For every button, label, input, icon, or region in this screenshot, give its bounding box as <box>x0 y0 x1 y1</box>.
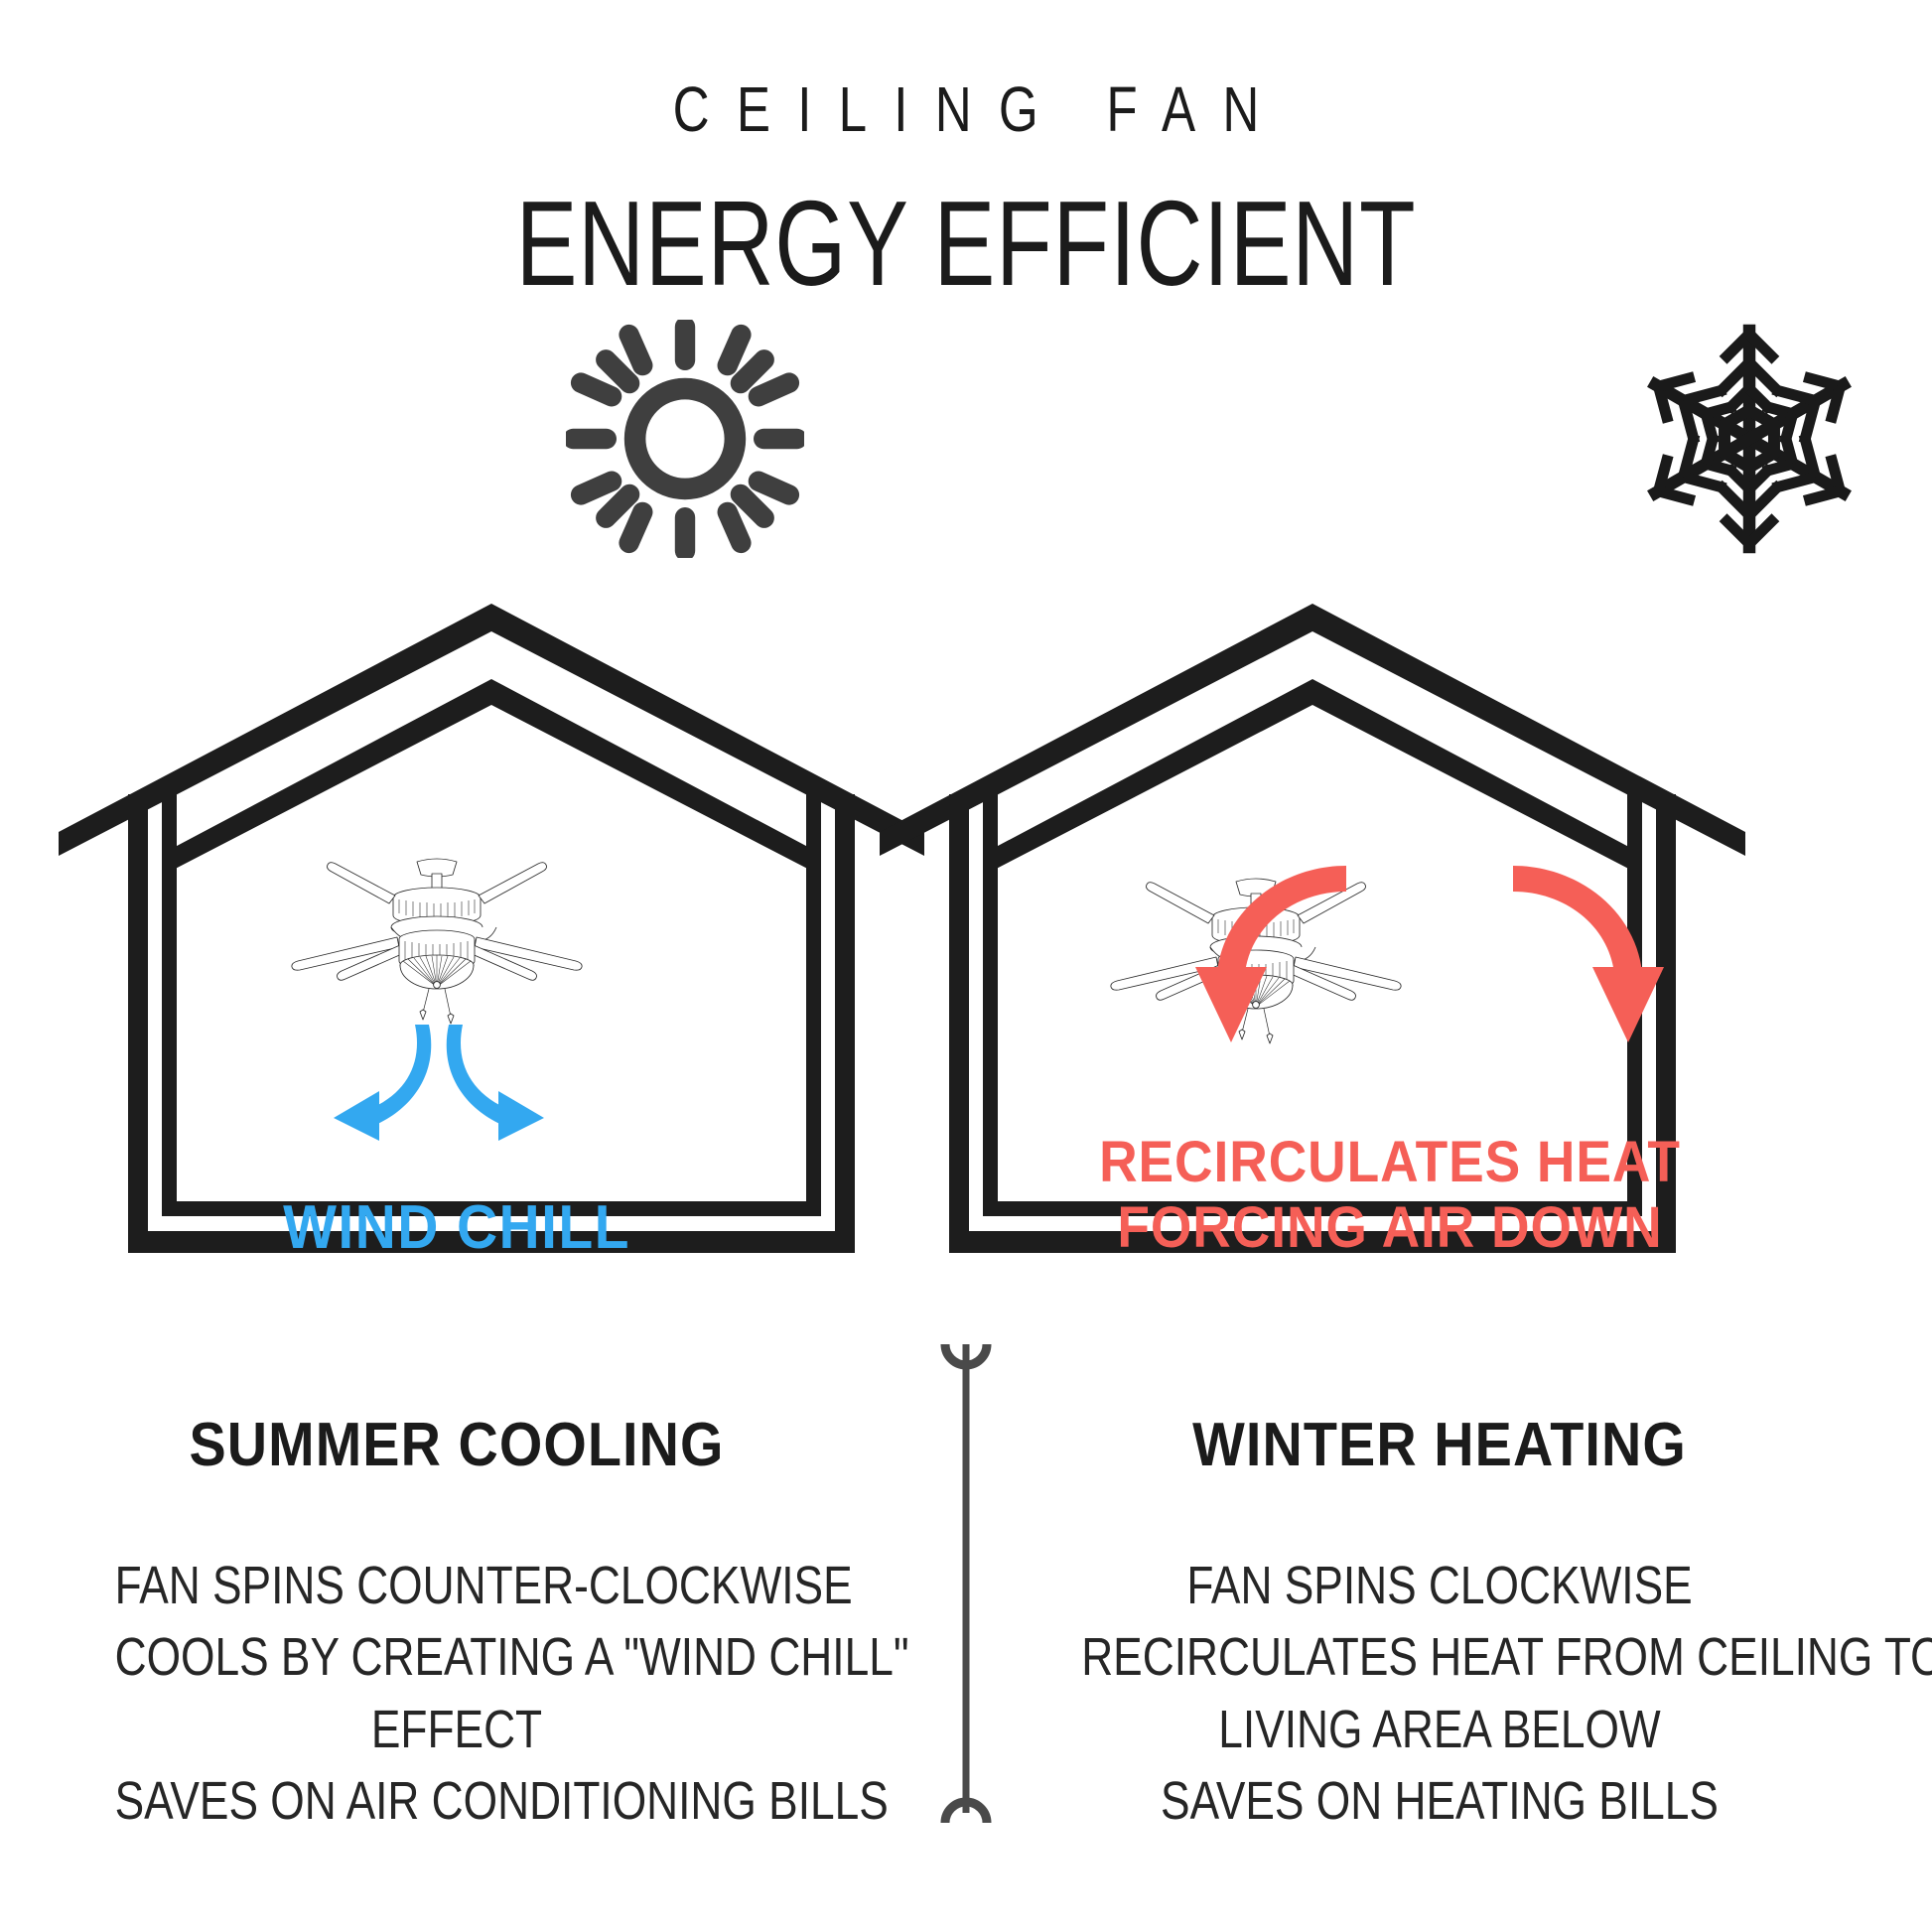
title-block: CEILING FAN ENERGY EFFICIENT <box>0 77 1932 304</box>
body-winter: FAN SPINS CLOCKWISE RECIRCULATES HEAT FR… <box>1081 1550 1798 1837</box>
arrow-recirculate-left <box>1195 866 1346 1042</box>
page-title: ENERGY EFFICIENT <box>232 183 1701 304</box>
body-line: SAVES ON HEATING BILLS <box>1081 1765 1798 1837</box>
column-winter: WINTER HEATING FAN SPINS CLOCKWISE RECIR… <box>1003 1410 1876 1837</box>
snowflake-icon <box>1630 320 1868 558</box>
callout-line-2: FORCING AIR DOWN <box>1025 1195 1755 1261</box>
ceiling-fan-summer <box>278 854 596 1042</box>
arrow-recirculate-right <box>1513 866 1664 1042</box>
body-line: LIVING AREA BELOW <box>1081 1694 1798 1765</box>
body-line: RECIRCULATES HEAT FROM CEILING TO <box>1081 1621 1798 1693</box>
callout-recirculates-heat: RECIRCULATES HEAT FORCING AIR DOWN <box>1025 1130 1755 1260</box>
airflow-arrows-winter <box>1172 854 1688 1082</box>
heading-winter-heating: WINTER HEATING <box>1046 1410 1833 1480</box>
infographic-canvas: CEILING FAN ENERGY EFFICIENT <box>0 0 1932 1932</box>
heading-summer-cooling: SUMMER COOLING <box>81 1410 832 1480</box>
body-line: COOLS BY CREATING A "WIND CHILL" <box>115 1621 799 1693</box>
arrow-down-right <box>447 1025 544 1141</box>
arrow-down-left <box>334 1025 431 1141</box>
sun-icon <box>566 320 804 558</box>
body-line: FAN SPINS CLOCKWISE <box>1081 1550 1798 1621</box>
callout-line-1: RECIRCULATES HEAT <box>1025 1130 1755 1195</box>
body-summer: FAN SPINS COUNTER-CLOCKWISE COOLS BY CRE… <box>115 1550 799 1837</box>
body-line: SAVES ON AIR CONDITIONING BILLS <box>115 1765 799 1837</box>
body-line: EFFECT <box>115 1694 799 1765</box>
column-summer: SUMMER COOLING FAN SPINS COUNTER-CLOCKWI… <box>40 1410 874 1837</box>
body-line: FAN SPINS COUNTER-CLOCKWISE <box>115 1550 799 1621</box>
kicker-text: CEILING FAN <box>194 77 1739 141</box>
vertical-divider <box>931 1320 1001 1847</box>
airflow-arrows-summer <box>228 1023 645 1152</box>
callout-wind-chill: WIND CHILL <box>109 1193 803 1263</box>
